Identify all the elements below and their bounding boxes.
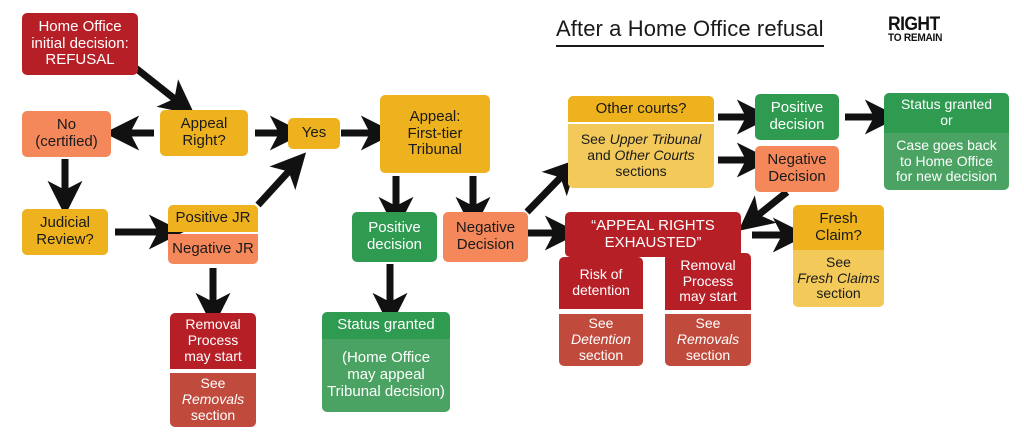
- logo-line-1: RIGHT: [888, 16, 942, 33]
- node-line-1: Case goes back: [896, 138, 996, 154]
- node-line-1: No: [57, 117, 76, 134]
- node-line-2: decision: [769, 117, 824, 134]
- node-other-courts-see-sections[interactable]: See Upper Tribunal and Other Courts sect…: [568, 124, 714, 188]
- node-line-1: Other courts?: [596, 101, 687, 118]
- node-line-1: Appeal: [181, 116, 228, 133]
- node-line-1: Status granted: [337, 317, 435, 334]
- node-status-granted-note[interactable]: (Home Office may appeal Tribunal decisio…: [322, 339, 450, 412]
- node-negative-jr[interactable]: Negative JR: [168, 234, 258, 264]
- node-status-granted[interactable]: Status granted: [322, 312, 450, 339]
- node-line-2: to Home Office: [900, 154, 993, 170]
- node-risk-of-detention[interactable]: Risk of detention: [559, 257, 643, 309]
- node-line-2: detention: [572, 283, 630, 299]
- logo-line-2: TO REMAIN: [888, 33, 942, 43]
- node-line-3: may start: [679, 289, 737, 305]
- node-line-1: Positive: [368, 220, 421, 237]
- node-line-1: Home Office: [38, 19, 121, 36]
- node-line-1: Fresh: [819, 211, 857, 228]
- node-line-2: (certified): [35, 134, 98, 151]
- node-line-2: Review?: [36, 232, 94, 249]
- and-prefix: and: [587, 147, 614, 163]
- node-judicial-review[interactable]: Judicial Review?: [22, 209, 108, 255]
- arrow-uc-negative-to-appeal-rights-exhausted: [757, 192, 787, 216]
- node-line-1: Risk of: [580, 267, 623, 283]
- node-appeal-rights-exhausted[interactable]: “APPEAL RIGHTS EXHAUSTED”: [565, 212, 741, 257]
- node-upper-court-positive-decision[interactable]: Positive decision: [755, 94, 839, 140]
- node-jr-removals-see-section[interactable]: See Removals section: [170, 373, 256, 427]
- node-line-1: Yes: [302, 125, 326, 142]
- node-line-1: Positive JR: [175, 210, 250, 227]
- node-line-3: section: [816, 286, 860, 302]
- node-line-3: section: [579, 348, 623, 364]
- node-line-1: Negative JR: [172, 241, 254, 258]
- node-line-2: initial decision:: [31, 36, 129, 53]
- page-title: After a Home Office refusal: [556, 16, 824, 47]
- node-line-2: or: [940, 113, 952, 129]
- node-line-2: Detention: [571, 332, 631, 348]
- node-line-1: (Home Office: [342, 350, 430, 367]
- see-prefix: See: [581, 131, 610, 147]
- node-line-1: Positive: [771, 100, 824, 117]
- node-line-2: Decision: [768, 169, 826, 186]
- node-line-2: Claim?: [815, 228, 862, 245]
- flowchart-canvas: After a Home Office refusal RIGHT TO REM…: [0, 0, 1024, 439]
- node-line-1: Negative: [456, 220, 515, 237]
- node-line-3: Tribunal decision): [327, 384, 445, 401]
- node-line-1: Appeal:: [410, 109, 461, 126]
- node-line-2: First-tier: [408, 126, 463, 143]
- node-line-2: Process: [683, 274, 734, 290]
- node-removals-see-section[interactable]: See Removals section: [665, 314, 751, 366]
- node-jr-removal-process[interactable]: Removal Process may start: [170, 313, 256, 369]
- node-line-2: Process: [188, 333, 239, 349]
- node-line-2: may appeal: [347, 367, 425, 384]
- node-appeal-first-tier-tribunal[interactable]: Appeal: First-tier Tribunal: [380, 95, 490, 173]
- other-courts-ref: Other Courts: [615, 147, 695, 163]
- node-line-2: Right?: [182, 133, 225, 150]
- node-line-3: REFUSAL: [45, 52, 114, 69]
- node-line-2: Removals: [677, 332, 739, 348]
- node-line-3: section: [686, 348, 730, 364]
- node-upper-court-negative-decision[interactable]: Negative Decision: [755, 146, 839, 192]
- node-line-3: sections: [615, 164, 666, 180]
- node-line-1: Removal: [680, 258, 735, 274]
- node-line-3: section: [191, 408, 235, 424]
- node-line-3: Tribunal: [408, 142, 462, 159]
- node-appeal-right[interactable]: Appeal Right?: [160, 110, 248, 156]
- node-line-1: See Upper Tribunal: [581, 132, 701, 148]
- node-line-1: Negative: [767, 152, 826, 169]
- node-line-1: See: [696, 316, 721, 332]
- node-fresh-claim[interactable]: Fresh Claim?: [793, 205, 884, 250]
- node-line-1: See: [201, 376, 226, 392]
- node-line-1: Removal: [185, 317, 240, 333]
- node-ftt-negative-decision[interactable]: Negative Decision: [443, 212, 528, 262]
- node-home-office-initial-decision[interactable]: Home Office initial decision: REFUSAL: [22, 13, 138, 75]
- node-status-granted-or[interactable]: Status granted or: [884, 93, 1009, 133]
- node-line-2: EXHAUSTED”: [605, 235, 702, 252]
- node-line-2: Decision: [457, 237, 515, 254]
- node-line-2: Removals: [182, 392, 244, 408]
- node-line-1: See: [589, 316, 614, 332]
- node-yes[interactable]: Yes: [288, 118, 340, 149]
- node-line-2: decision: [367, 237, 422, 254]
- node-positive-jr[interactable]: Positive JR: [168, 205, 258, 232]
- node-line-1: “APPEAL RIGHTS: [591, 218, 715, 235]
- node-line-1: Status granted: [901, 97, 992, 113]
- node-ftt-positive-decision[interactable]: Positive decision: [352, 212, 437, 262]
- upper-tribunal-ref: Upper Tribunal: [610, 131, 702, 147]
- node-line-3: for new decision: [896, 169, 997, 185]
- right-to-remain-logo: RIGHT TO REMAIN: [888, 16, 947, 44]
- node-no-certified[interactable]: No (certified): [22, 111, 111, 157]
- node-fresh-claims-see-section[interactable]: See Fresh Claims section: [793, 250, 884, 307]
- arrow-negative-to-other-courts: [527, 176, 562, 212]
- node-line-2: Fresh Claims: [797, 271, 879, 287]
- node-detention-see-section[interactable]: See Detention section: [559, 314, 643, 366]
- arrow-positive-jr-to-yes: [258, 170, 290, 205]
- node-other-courts[interactable]: Other courts?: [568, 96, 714, 122]
- node-line-3: may start: [184, 349, 242, 365]
- node-line-1: Judicial: [40, 215, 90, 232]
- node-are-removal-process[interactable]: Removal Process may start: [665, 253, 751, 310]
- node-case-goes-back-to-home-office[interactable]: Case goes back to Home Office for new de…: [884, 133, 1009, 190]
- node-line-1: See: [826, 255, 851, 271]
- node-line-2: and Other Courts: [587, 148, 694, 164]
